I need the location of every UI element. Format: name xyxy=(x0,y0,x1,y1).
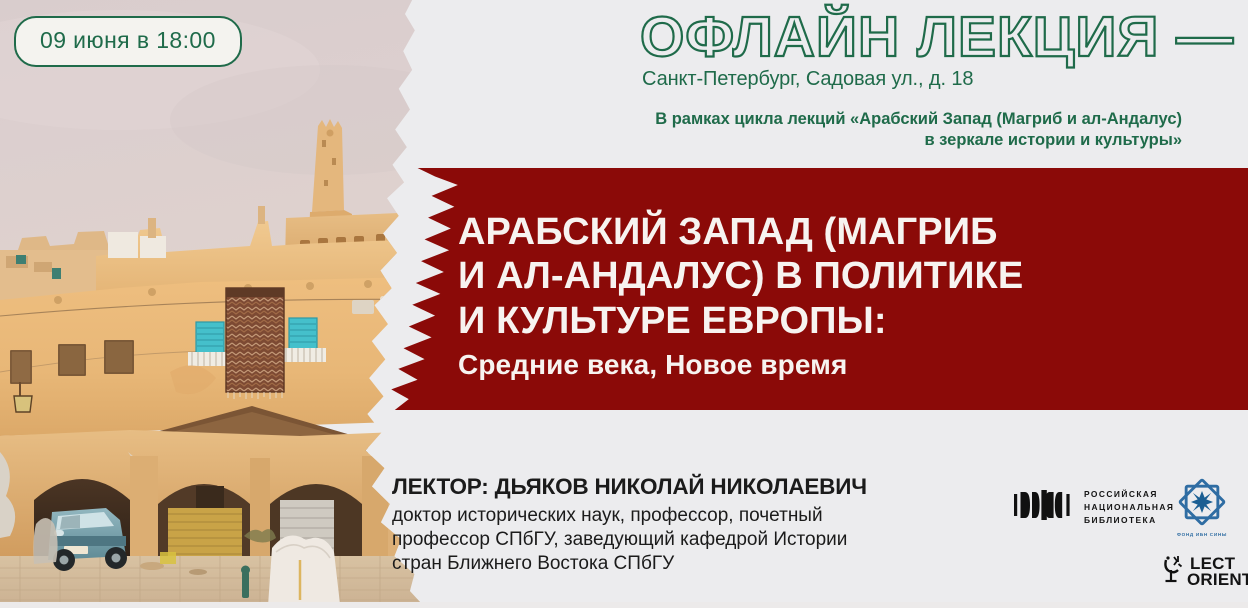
lecturer-description: доктор исторических наук, профессор, поч… xyxy=(392,504,952,576)
lecturer-desc-line-1: доктор исторических наук, профессор, поч… xyxy=(392,504,952,528)
lecture-cycle-line-1: В рамках цикла лекций «Арабский Запад (М… xyxy=(560,109,1182,130)
lecturer-block: ЛЕКТОР: ДЬЯКОВ НИКОЛАЙ НИКОЛАЕВИЧ доктор… xyxy=(392,474,952,576)
lecture-cycle-note: В рамках цикла лекций «Арабский Запад (М… xyxy=(560,109,1208,150)
library-name-line-3: БИБЛИОТЕКА xyxy=(1084,514,1174,527)
poster-canvas: 09 июня в 18:00 ОФЛАЙН ЛЕКЦИЯ — Санкт-Пе… xyxy=(0,0,1248,608)
bottom-strip xyxy=(0,602,1248,608)
lecture-cycle-line-2: в зеркале истории и культуры» xyxy=(560,130,1182,151)
date-badge[interactable]: 09 июня в 18:00 xyxy=(14,16,242,67)
lect-orient-wordmark: LECT ORIENT xyxy=(1190,556,1248,587)
lecture-title-line-2: И АЛ-АНДАЛУС) В ПОЛИТИКЕ xyxy=(458,254,1158,298)
lecture-title-line-3: И КУЛЬТУРЕ ЕВРОПЫ: xyxy=(458,299,1158,343)
ibn-sina-caption: ФОНД ИБН СИНЫ xyxy=(1167,532,1237,537)
red-panel-content: АРАБСКИЙ ЗАПАД (МАГРИБ И АЛ-АНДАЛУС) В П… xyxy=(458,210,1158,381)
lecture-title: АРАБСКИЙ ЗАПАД (МАГРИБ И АЛ-АНДАЛУС) В П… xyxy=(458,210,1158,343)
library-name-line-1: РОССИЙСКАЯ xyxy=(1084,488,1174,501)
header-block: ОФЛАЙН ЛЕКЦИЯ — Санкт-Петербург, Садовая… xyxy=(560,0,1248,150)
photo-svg xyxy=(0,0,448,608)
eight-point-star-icon xyxy=(1178,513,1226,530)
lecturer-desc-line-3: стран Ближнего Востока СПбГУ xyxy=(392,552,952,576)
lecturer-name: ЛЕКТОР: ДЬЯКОВ НИКОЛАЙ НИКОЛАЕВИЧ xyxy=(392,474,952,500)
lecture-subtitle: Средние века, Новое время xyxy=(458,349,1158,381)
library-bars-icon xyxy=(1014,490,1072,525)
lect-orient-mark-icon xyxy=(1162,554,1188,589)
logo-strip: РОССИЙСКАЯ НАЦИОНАЛЬНАЯ БИБЛИОТЕКА xyxy=(1010,478,1248,608)
library-name-line-2: НАЦИОНАЛЬНАЯ xyxy=(1084,501,1174,514)
logo-lect-orient[interactable]: LECT ORIENT xyxy=(1162,554,1248,589)
offline-lecture-kicker: ОФЛАЙН ЛЕКЦИЯ — xyxy=(560,0,1248,66)
photo-illustration xyxy=(0,0,448,608)
red-title-panel: АРАБСКИЙ ЗАПАД (МАГРИБ И АЛ-АНДАЛУС) В П… xyxy=(372,168,1248,410)
lecturer-desc-line-2: профессор СПбГУ, заведующий кафедрой Ист… xyxy=(392,528,952,552)
logo-ibn-sina-foundation[interactable]: ФОНД ИБН СИНЫ xyxy=(1167,478,1237,537)
lecture-title-line-1: АРАБСКИЙ ЗАПАД (МАГРИБ xyxy=(458,210,1158,254)
library-wordmark: РОССИЙСКАЯ НАЦИОНАЛЬНАЯ БИБЛИОТЕКА xyxy=(1084,488,1174,527)
lect-orient-line-2: ORIENT xyxy=(1187,572,1248,588)
hero-photo xyxy=(0,0,448,608)
venue-address: Санкт-Петербург, Садовая ул., д. 18 xyxy=(560,68,1248,91)
logo-russian-national-library[interactable]: РОССИЙСКАЯ НАЦИОНАЛЬНАЯ БИБЛИОТЕКА xyxy=(1014,488,1174,527)
